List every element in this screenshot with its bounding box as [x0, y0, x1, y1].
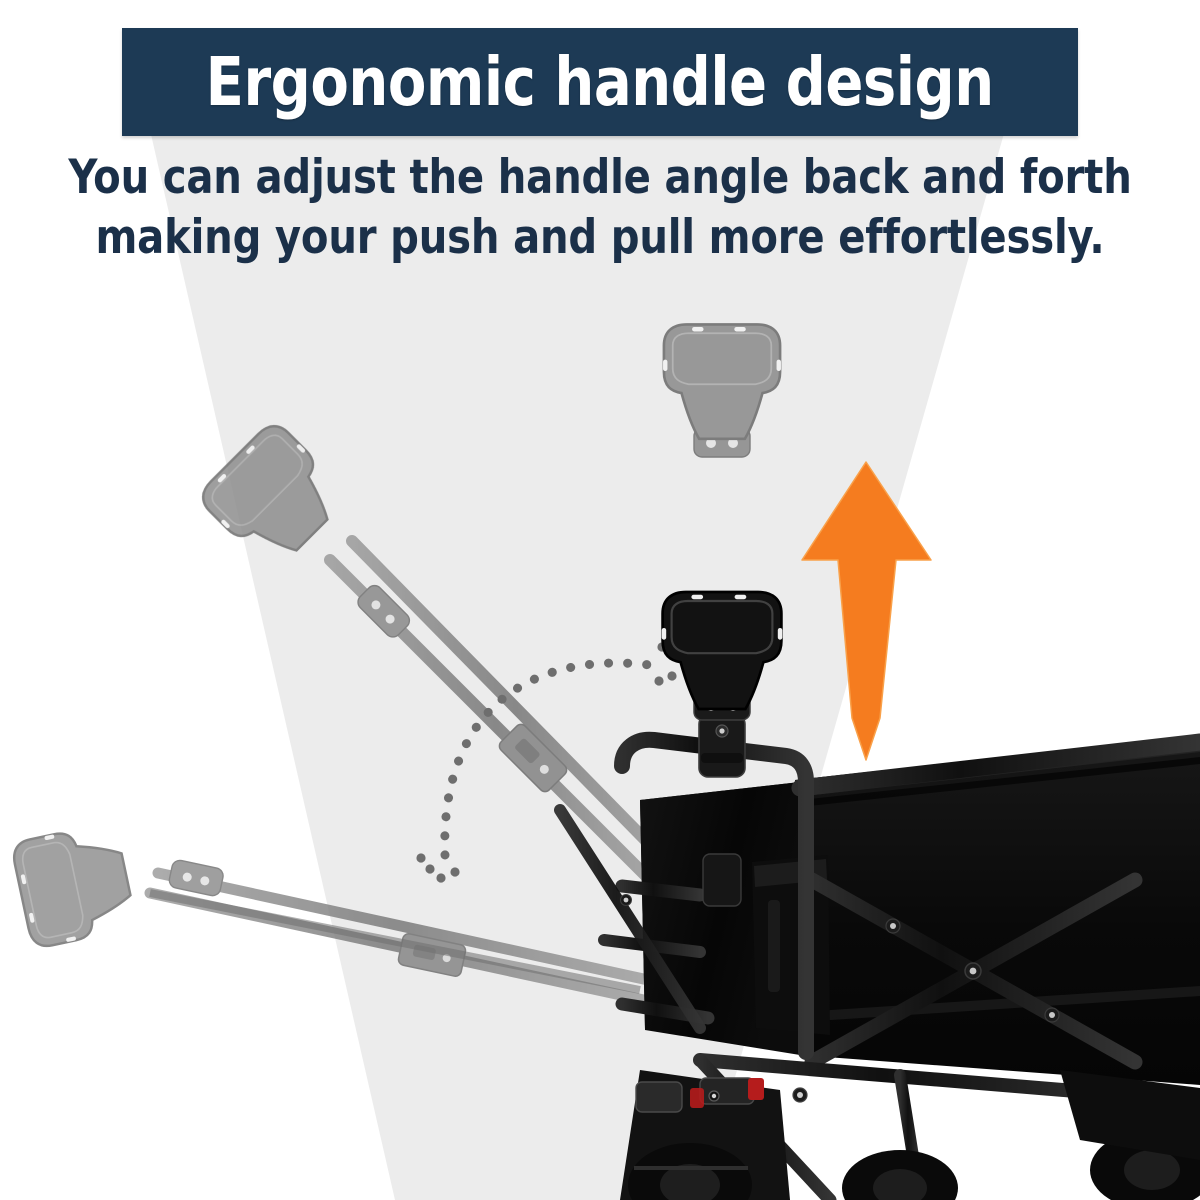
subtitle-line-1: You can adjust the handle angle back and… [30, 148, 1170, 208]
subtitle-line-2: making your push and pull more effortles… [30, 208, 1170, 268]
infographic-canvas: Ergonomic handle design You can adjust t… [0, 0, 1200, 1200]
page-title: Ergonomic handle design [206, 49, 994, 116]
title-banner: Ergonomic handle design [122, 28, 1078, 136]
subtitle-block: You can adjust the handle angle back and… [0, 148, 1200, 268]
orange-up-arrow-icon [802, 462, 931, 760]
